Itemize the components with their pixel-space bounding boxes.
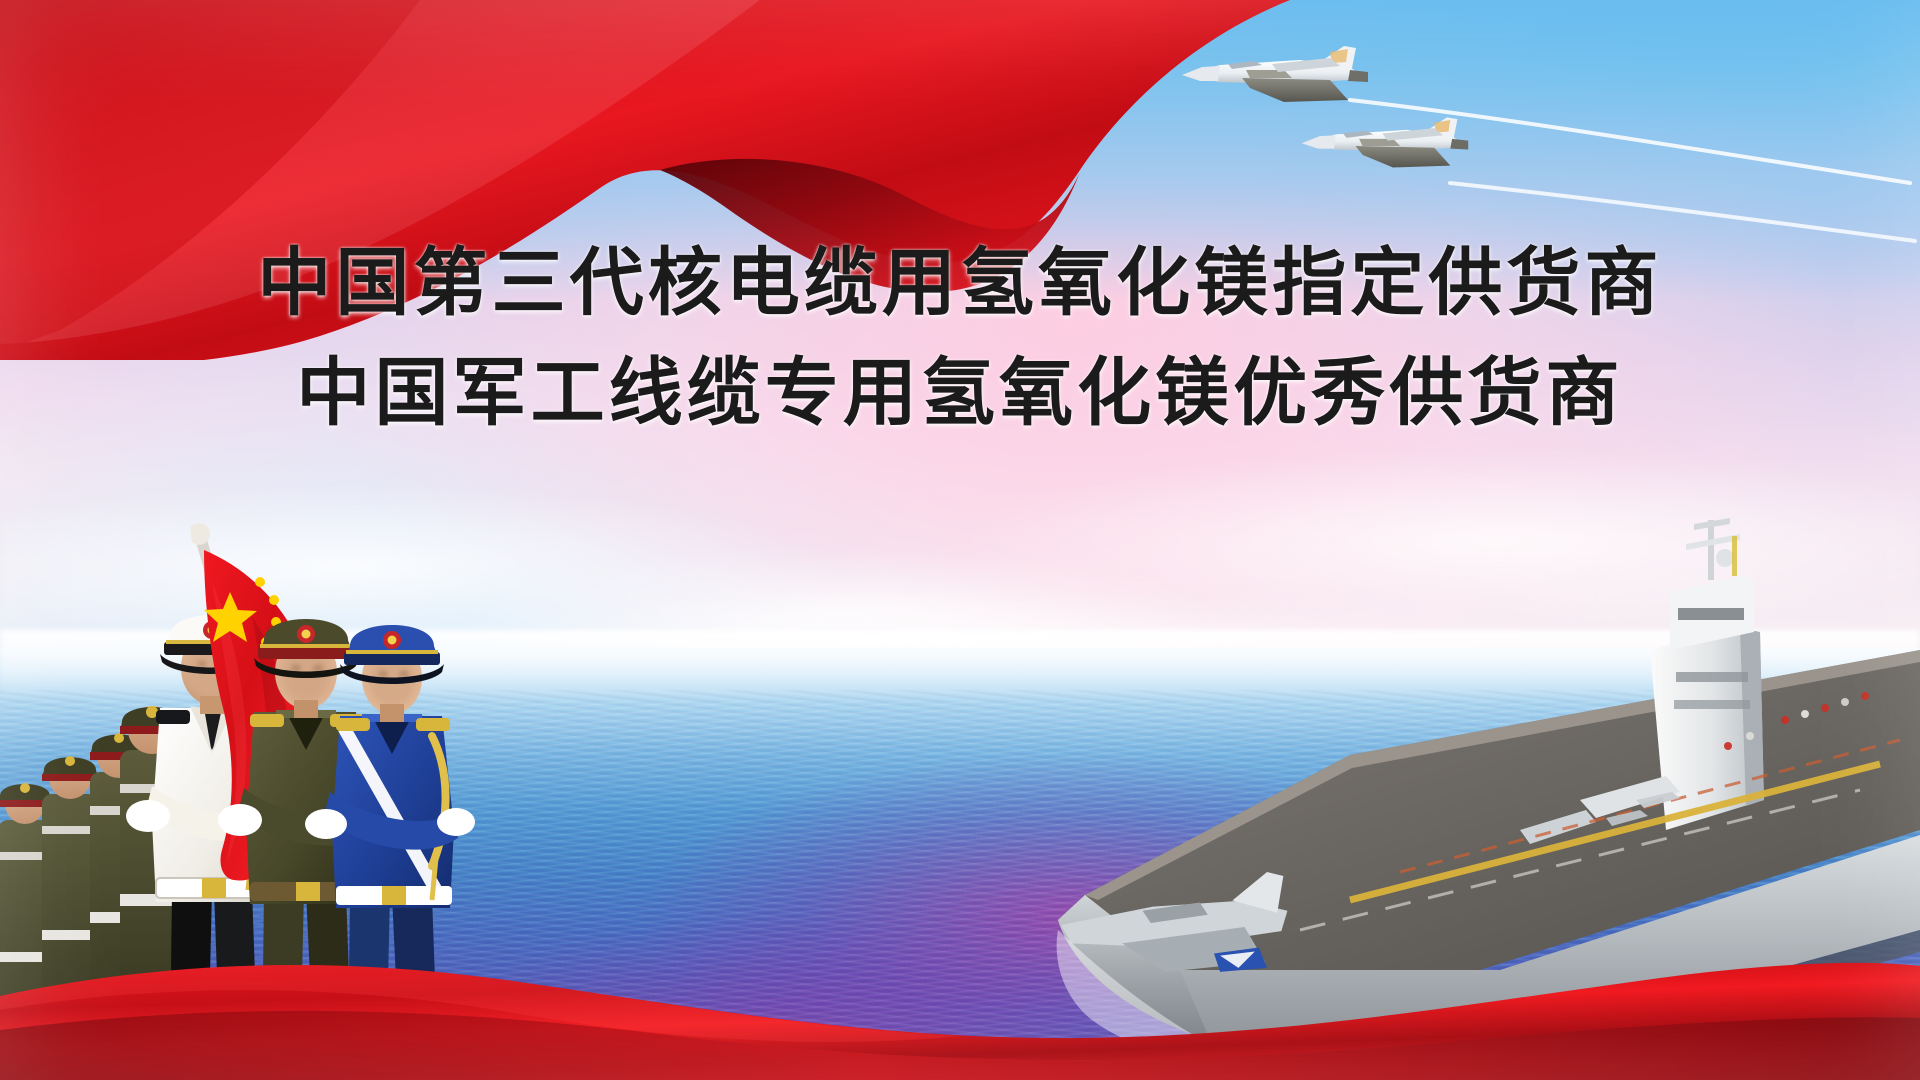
title-block: 中国第三代核电缆用氢氧化镁指定供货商 中国军工线缆专用氢氧化镁优秀供货商 <box>0 246 1920 430</box>
page-title-line-1: 中国第三代核电缆用氢氧化镁指定供货商 <box>0 246 1920 320</box>
jet-contrails <box>1340 55 1920 255</box>
page-title-line-2: 中国军工线缆专用氢氧化镁优秀供货商 <box>0 356 1920 430</box>
banner-stage: 中国第三代核电缆用氢氧化镁指定供货商 中国军工线缆专用氢氧化镁优秀供货商 <box>0 0 1920 1080</box>
red-silk-wave-bottom <box>0 910 1920 1080</box>
